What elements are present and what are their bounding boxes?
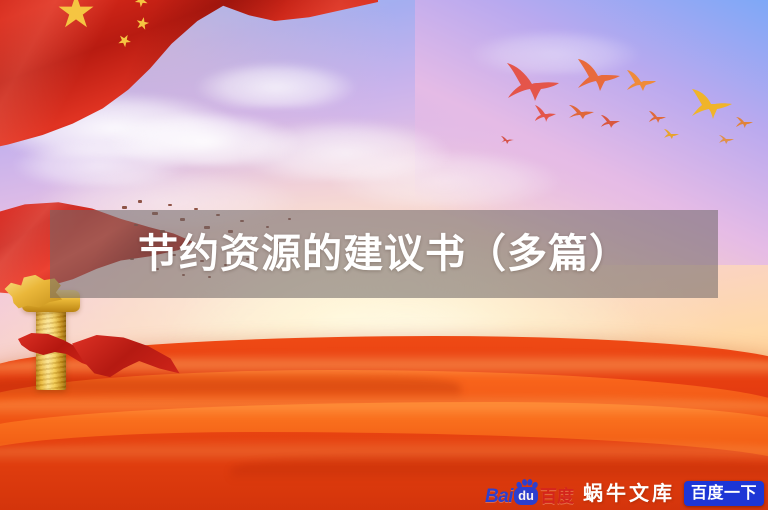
baidu-logo[interactable]: Bai du 百度	[485, 480, 574, 506]
watermark-bar: Bai du 百度 蜗牛文库 百度一下	[485, 478, 764, 508]
baidu-du-text: du	[518, 488, 534, 503]
baidu-search-button[interactable]: 百度一下	[684, 481, 764, 506]
paw-print-icon	[516, 479, 538, 489]
page-title: 节约资源的建议书（多篇）	[138, 234, 630, 274]
site-name-watermark: 蜗牛文库	[583, 482, 675, 504]
title-banner: 节约资源的建议书（多篇）	[50, 210, 718, 298]
baidu-chinese-text: 百度	[540, 488, 574, 506]
silk-highlight	[0, 392, 768, 418]
baidu-bai-text: Bai	[485, 487, 513, 506]
baidu-du-badge: du	[514, 487, 538, 505]
poster-image: 节约资源的建议书（多篇） Bai du 百度 蜗牛文库 百度一下	[0, 0, 768, 510]
